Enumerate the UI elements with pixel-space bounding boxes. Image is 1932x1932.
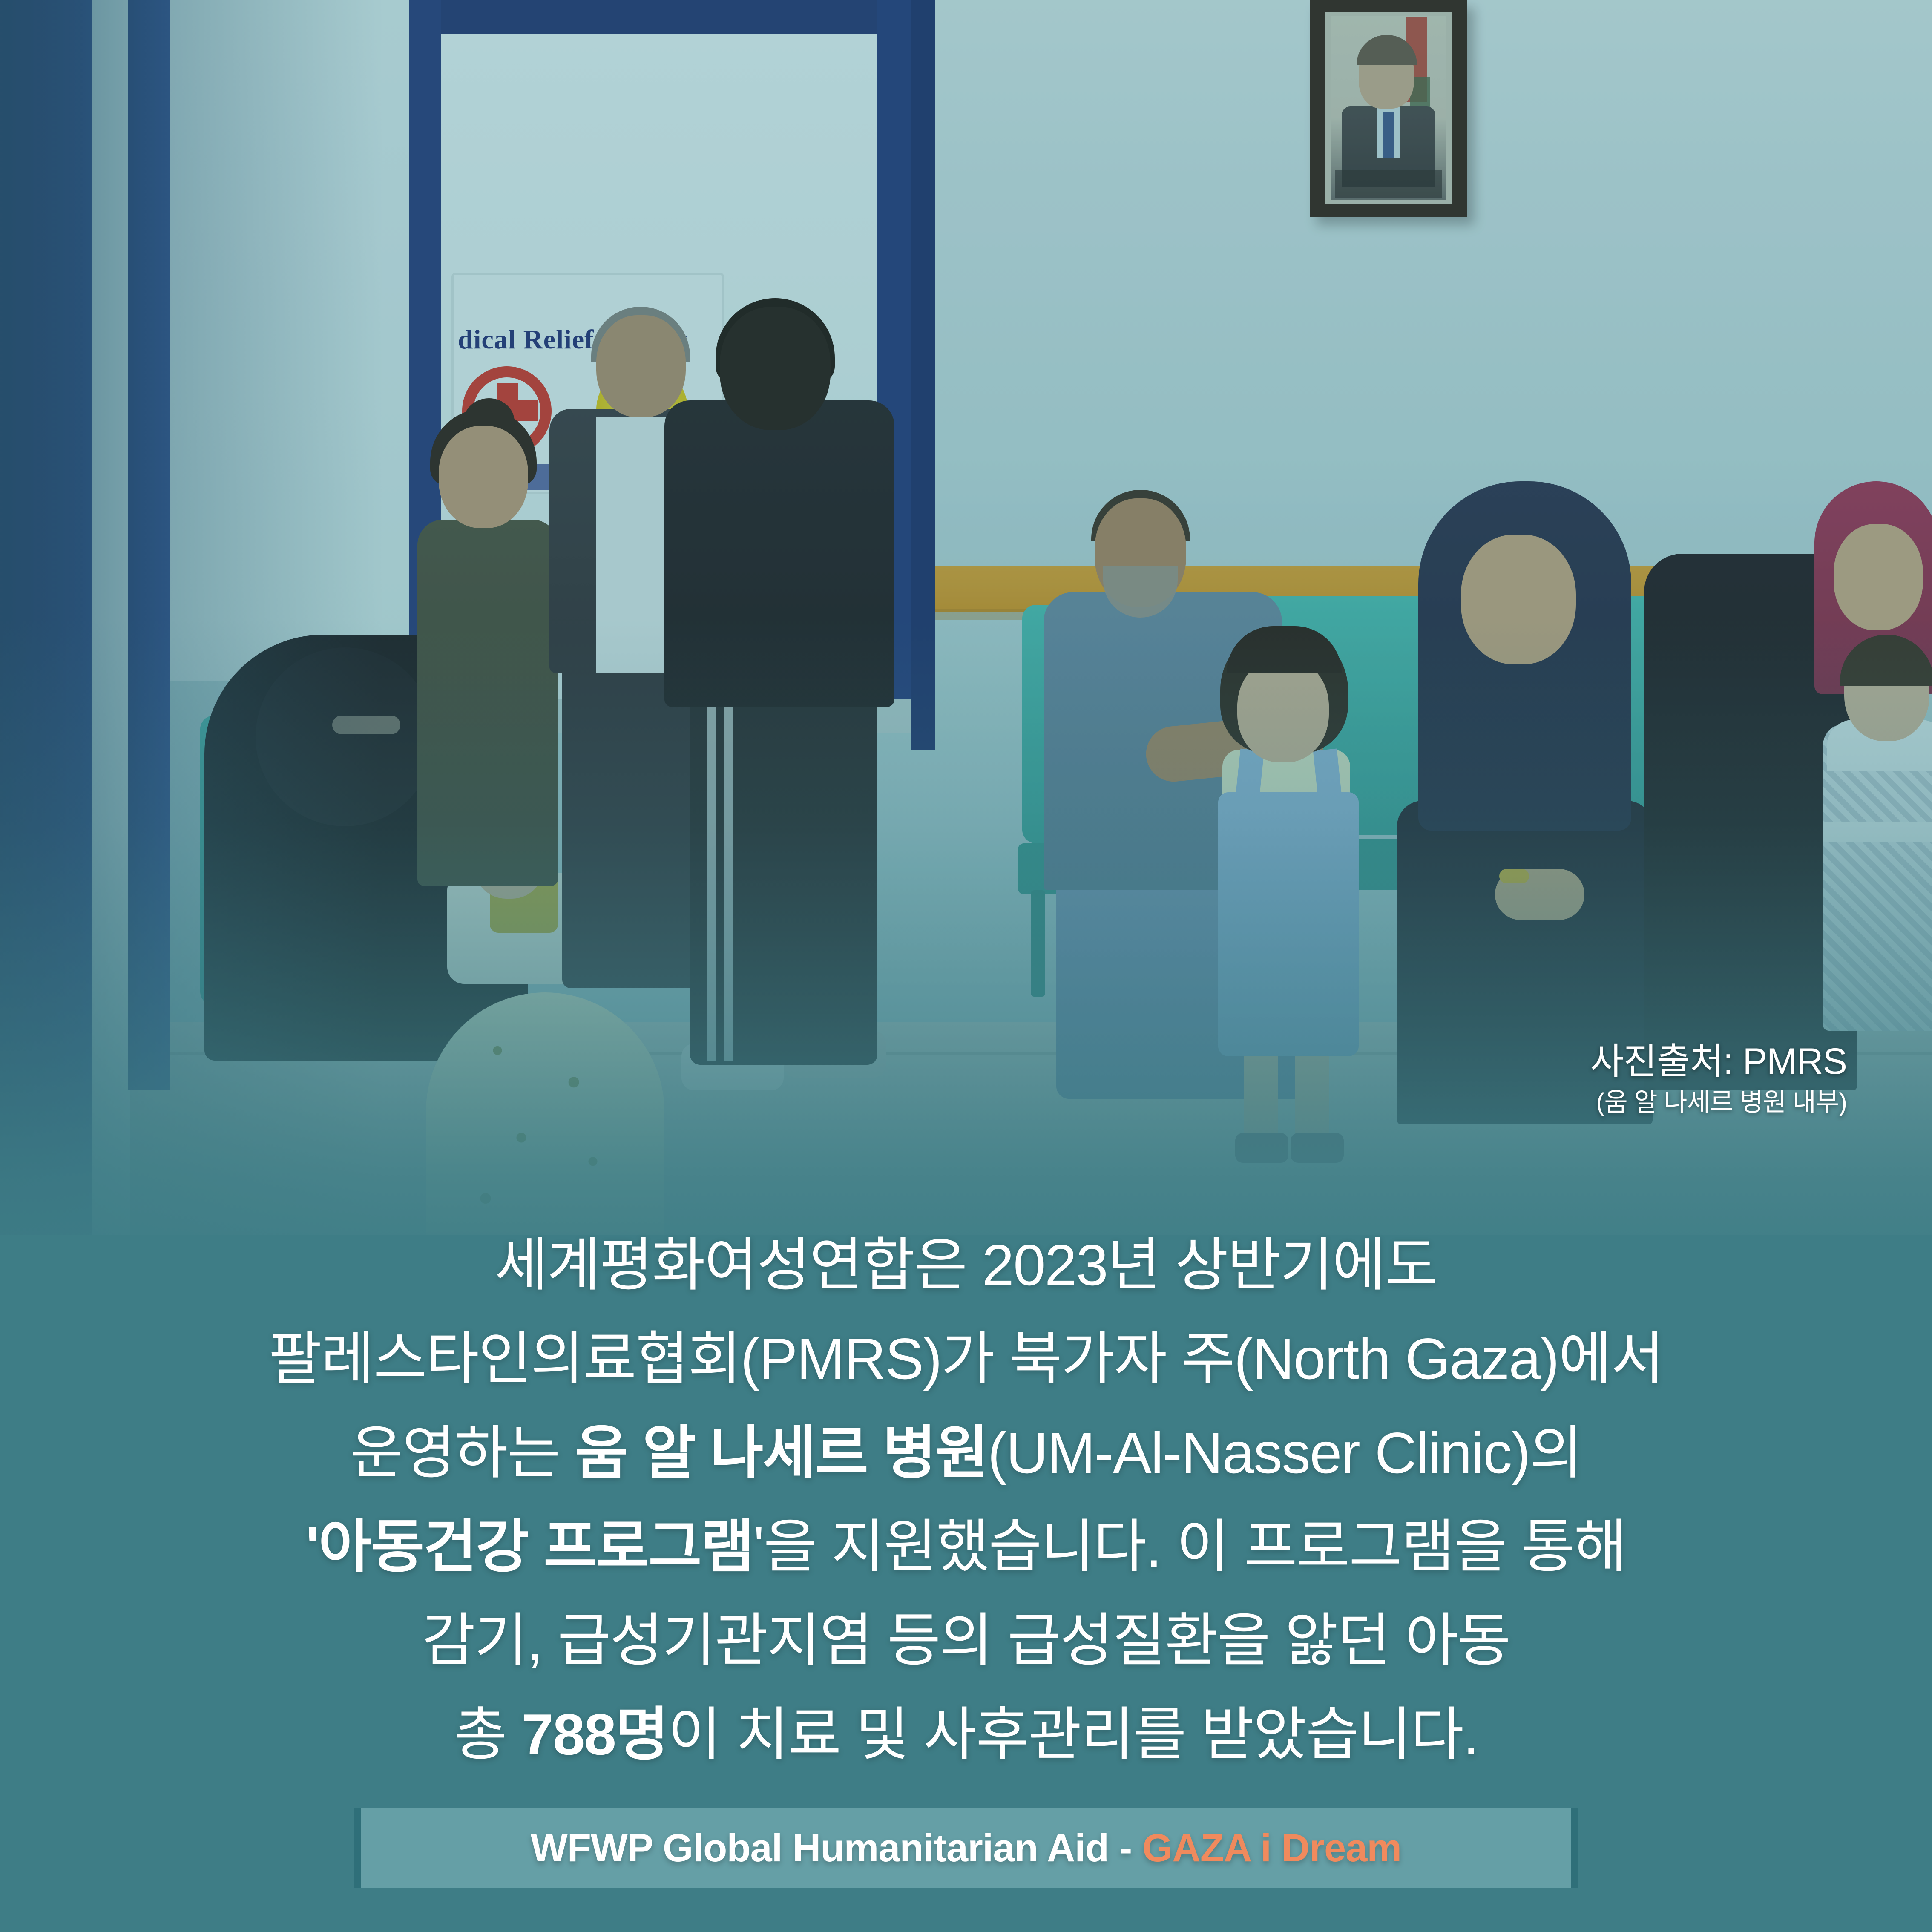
body-line-2: 팔레스타인의료협회(PMRS)가 북가자 주(North Gaza)에서: [0, 1312, 1932, 1406]
photo-bottom-fade: [0, 618, 1932, 1299]
footer-banner-prefix: WFWP Global Humanitarian Aid -: [531, 1826, 1142, 1870]
clinic-name-bold: 움 알 나세르 병원: [575, 1420, 988, 1485]
footer-banner-highlight: GAZA i Dream: [1142, 1826, 1401, 1870]
body-line-6a: 총: [454, 1702, 521, 1767]
body-copy: 세계평화여성연합은 2023년 상반기에도 팔레스타인의료협회(PMRS)가 북…: [0, 1218, 1932, 1781]
photo-credit-source: 사진출처: PMRS: [1590, 1039, 1847, 1084]
body-line-1: 세계평화여성연합은 2023년 상반기에도: [0, 1218, 1932, 1312]
infographic-card: dical Relief Society: [0, 0, 1932, 1932]
body-line-4c: '을 지원했습니다. 이 프로그램을 통해: [753, 1514, 1627, 1579]
beneficiary-count-bold: 788명: [521, 1702, 668, 1767]
body-line-4: '아동건강 프로그램'을 지원했습니다. 이 프로그램을 통해: [0, 1500, 1932, 1593]
body-line-6c: 이 치료 및 사후관리를 받았습니다.: [668, 1702, 1478, 1767]
footer-banner: WFWP Global Humanitarian Aid - GAZA i Dr…: [354, 1808, 1578, 1888]
body-line-3: 운영하는 움 알 나세르 병원(UM-Al-Nasser Clinic)의: [0, 1406, 1932, 1500]
body-line-3a: 운영하는: [350, 1420, 575, 1485]
photo-credit: 사진출처: PMRS (움 알 나세르 병원 내부): [1590, 1039, 1847, 1118]
program-name-bold: 아동건강 프로그램: [319, 1514, 753, 1579]
body-line-6: 총 788명이 치료 및 사후관리를 받았습니다.: [0, 1688, 1932, 1781]
footer-banner-text: WFWP Global Humanitarian Aid - GAZA i Dr…: [531, 1826, 1401, 1871]
body-line-3c: (UM-Al-Nasser Clinic)의: [988, 1420, 1582, 1485]
body-line-5: 감기, 급성기관지염 등의 급성질환을 앓던 아동: [0, 1593, 1932, 1687]
photo-credit-location: (움 알 나세르 병원 내부): [1590, 1087, 1847, 1118]
program-quote-open: ': [306, 1514, 319, 1579]
